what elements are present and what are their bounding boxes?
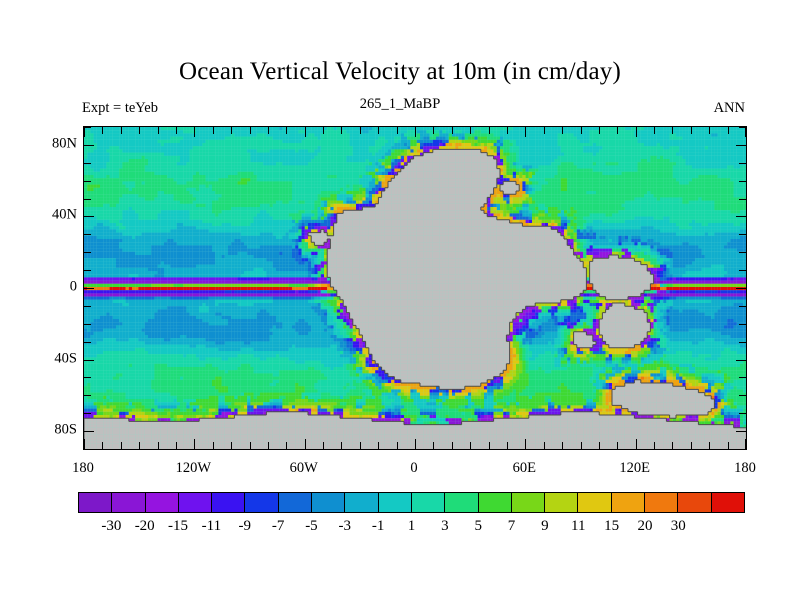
x-axis-tick <box>636 127 637 137</box>
colorbar-cell <box>545 493 578 512</box>
x-axis-tick <box>672 127 673 134</box>
x-axis-tick <box>397 127 398 134</box>
y-axis-tick <box>739 377 746 378</box>
y-axis-tick <box>736 288 746 289</box>
y-axis-tick <box>84 127 91 128</box>
x-axis-tick <box>525 439 526 449</box>
y-axis-tick <box>84 163 91 164</box>
y-axis-tick <box>84 199 91 200</box>
y-axis-tick <box>84 234 91 235</box>
x-axis-tick <box>709 442 710 449</box>
x-axis-tick <box>323 442 324 449</box>
x-axis-tick <box>158 127 159 134</box>
x-axis-tick <box>489 442 490 449</box>
y-axis-label: 0 <box>31 279 77 296</box>
colorbar-tick-label: 1 <box>408 518 416 535</box>
y-axis-tick <box>84 377 91 378</box>
x-axis-tick <box>470 442 471 449</box>
x-axis-label: 0 <box>410 460 417 477</box>
map-plot-area[interactable] <box>83 126 747 450</box>
y-axis-tick <box>736 431 746 432</box>
x-axis-tick <box>617 127 618 134</box>
x-axis-tick <box>562 127 563 134</box>
x-axis-tick <box>341 127 342 134</box>
x-axis-tick <box>268 127 269 134</box>
colorbar-cell <box>179 493 212 512</box>
x-axis-tick <box>728 127 729 134</box>
x-axis-tick <box>213 127 214 134</box>
colorbar-cell <box>412 493 445 512</box>
y-axis-label: 40S <box>31 350 77 367</box>
x-axis-label: 180 <box>734 460 756 477</box>
y-axis-tick <box>739 270 746 271</box>
x-axis-tick <box>286 442 287 449</box>
x-axis-tick <box>305 127 306 137</box>
y-axis-tick <box>84 145 94 146</box>
colorbar-cell <box>612 493 645 512</box>
y-axis-tick <box>739 306 746 307</box>
colorbar-cell <box>245 493 278 512</box>
x-axis-tick <box>617 442 618 449</box>
y-axis-tick <box>736 216 746 217</box>
y-axis-tick <box>739 252 746 253</box>
x-axis-label: 120E <box>619 460 650 477</box>
x-axis-tick <box>581 127 582 134</box>
y-axis-tick <box>84 216 94 217</box>
y-axis-tick <box>84 360 94 361</box>
x-axis-tick <box>507 442 508 449</box>
colorbar-tick-label: -30 <box>101 518 121 535</box>
x-axis-tick <box>250 127 251 134</box>
colorbar-tick-label: -20 <box>135 518 155 535</box>
y-axis-tick <box>739 395 746 396</box>
colorbar-cell <box>79 493 112 512</box>
x-axis-tick <box>728 442 729 449</box>
colorbar-tick-label: -1 <box>372 518 385 535</box>
x-axis-tick <box>360 442 361 449</box>
page-title: Ocean Vertical Velocity at 10m (in cm/da… <box>0 58 800 86</box>
colorbar-cell <box>279 493 312 512</box>
x-axis-tick <box>691 442 692 449</box>
y-axis-tick <box>739 234 746 235</box>
x-axis-tick <box>672 442 673 449</box>
x-axis-label: 120W <box>176 460 211 477</box>
colorbar-cell <box>146 493 179 512</box>
x-axis-tick <box>415 127 416 137</box>
x-axis-tick <box>745 439 746 449</box>
colorbar-tick-label: 5 <box>474 518 482 535</box>
x-axis-tick <box>415 439 416 449</box>
colorbar-cell <box>212 493 245 512</box>
x-axis-tick <box>213 442 214 449</box>
y-axis-tick <box>736 360 746 361</box>
colorbar-cell <box>678 493 711 512</box>
x-axis-label: 60E <box>513 460 536 477</box>
x-axis-tick <box>121 442 122 449</box>
x-axis-tick <box>102 127 103 134</box>
x-axis-tick <box>231 127 232 134</box>
colorbar-cell <box>512 493 545 512</box>
x-axis-tick <box>194 439 195 449</box>
x-axis-tick <box>636 439 637 449</box>
x-axis-tick <box>562 442 563 449</box>
y-axis-label: 80S <box>31 422 77 439</box>
x-axis-tick <box>102 442 103 449</box>
y-axis-tick <box>736 145 746 146</box>
y-axis-tick <box>84 252 91 253</box>
x-axis-tick <box>176 127 177 134</box>
y-axis-tick <box>84 395 91 396</box>
y-axis-tick <box>84 431 94 432</box>
y-axis-tick <box>739 163 746 164</box>
y-axis-tick <box>84 306 91 307</box>
y-axis-tick <box>84 324 91 325</box>
x-axis-tick <box>341 442 342 449</box>
x-axis-tick <box>286 127 287 134</box>
colorbar-tick-label: -9 <box>239 518 252 535</box>
x-axis-tick <box>525 127 526 137</box>
x-axis-tick <box>433 442 434 449</box>
x-axis-tick <box>378 442 379 449</box>
x-axis-tick <box>360 127 361 134</box>
colorbar-tick-label: -5 <box>305 518 318 535</box>
y-axis-tick <box>739 181 746 182</box>
colorbar-tick-label: 7 <box>508 518 516 535</box>
x-axis-tick <box>599 127 600 134</box>
x-axis-tick <box>544 442 545 449</box>
y-axis-label: 80N <box>31 135 77 152</box>
colorbar-tick-label: -7 <box>272 518 285 535</box>
colorbar-cell <box>645 493 678 512</box>
colorbar-cell <box>312 493 345 512</box>
x-axis-tick <box>745 127 746 137</box>
y-axis-tick <box>84 413 91 414</box>
colorbar-cell <box>345 493 378 512</box>
x-axis-tick <box>139 127 140 134</box>
x-axis-tick <box>654 442 655 449</box>
y-axis-tick <box>739 324 746 325</box>
y-axis-tick <box>84 342 91 343</box>
x-axis-tick <box>452 127 453 134</box>
x-axis-tick <box>323 127 324 134</box>
colorbar-tick-label: -15 <box>168 518 188 535</box>
colorbar-tick-label: 15 <box>604 518 619 535</box>
x-axis-label: 60W <box>290 460 318 477</box>
colorbar[interactable] <box>78 492 745 513</box>
x-axis-tick <box>654 127 655 134</box>
x-axis-tick <box>470 127 471 134</box>
colorbar-cell <box>712 493 744 512</box>
y-axis-tick <box>739 413 746 414</box>
colorbar-tick-label: 9 <box>541 518 549 535</box>
y-axis-tick <box>84 181 91 182</box>
x-axis-tick <box>691 127 692 134</box>
colorbar-cell <box>479 493 512 512</box>
x-axis-tick <box>139 442 140 449</box>
x-axis-label: 180 <box>72 460 94 477</box>
y-axis-label: 40N <box>31 207 77 224</box>
x-axis-tick <box>84 127 85 137</box>
x-axis-tick <box>176 442 177 449</box>
x-axis-tick <box>489 127 490 134</box>
timeslice-label: 265_1_MaBP <box>0 96 800 113</box>
x-axis-tick <box>378 127 379 134</box>
colorbar-cell <box>445 493 478 512</box>
x-axis-tick <box>268 442 269 449</box>
y-axis-tick <box>84 449 91 450</box>
colorbar-tick-label: 20 <box>637 518 652 535</box>
x-axis-tick <box>599 442 600 449</box>
x-axis-tick <box>121 127 122 134</box>
ocean-vertical-velocity-map <box>84 127 746 449</box>
figure-canvas: Ocean Vertical Velocity at 10m (in cm/da… <box>0 0 800 600</box>
colorbar-cell <box>112 493 145 512</box>
x-axis-tick <box>433 127 434 134</box>
colorbar-tick-label: -3 <box>339 518 352 535</box>
colorbar-cell <box>379 493 412 512</box>
colorbar-strip[interactable] <box>78 492 745 513</box>
y-axis-tick <box>84 270 91 271</box>
colorbar-tick-label: -11 <box>202 518 221 535</box>
x-axis-tick <box>544 127 545 134</box>
colorbar-tick-label: 11 <box>571 518 585 535</box>
y-axis-tick <box>739 449 746 450</box>
y-axis-tick <box>84 288 94 289</box>
y-axis-tick <box>739 342 746 343</box>
x-axis-tick <box>397 442 398 449</box>
colorbar-tick-label: 30 <box>671 518 686 535</box>
season-label: ANN <box>714 100 745 117</box>
y-axis-tick <box>739 199 746 200</box>
x-axis-tick <box>709 127 710 134</box>
x-axis-tick <box>250 442 251 449</box>
x-axis-tick <box>305 439 306 449</box>
x-axis-tick <box>581 442 582 449</box>
x-axis-tick <box>452 442 453 449</box>
x-axis-tick <box>507 127 508 134</box>
colorbar-tick-label: 3 <box>441 518 449 535</box>
x-axis-tick <box>231 442 232 449</box>
colorbar-cell <box>578 493 611 512</box>
x-axis-tick <box>84 439 85 449</box>
x-axis-tick <box>158 442 159 449</box>
x-axis-tick <box>194 127 195 137</box>
